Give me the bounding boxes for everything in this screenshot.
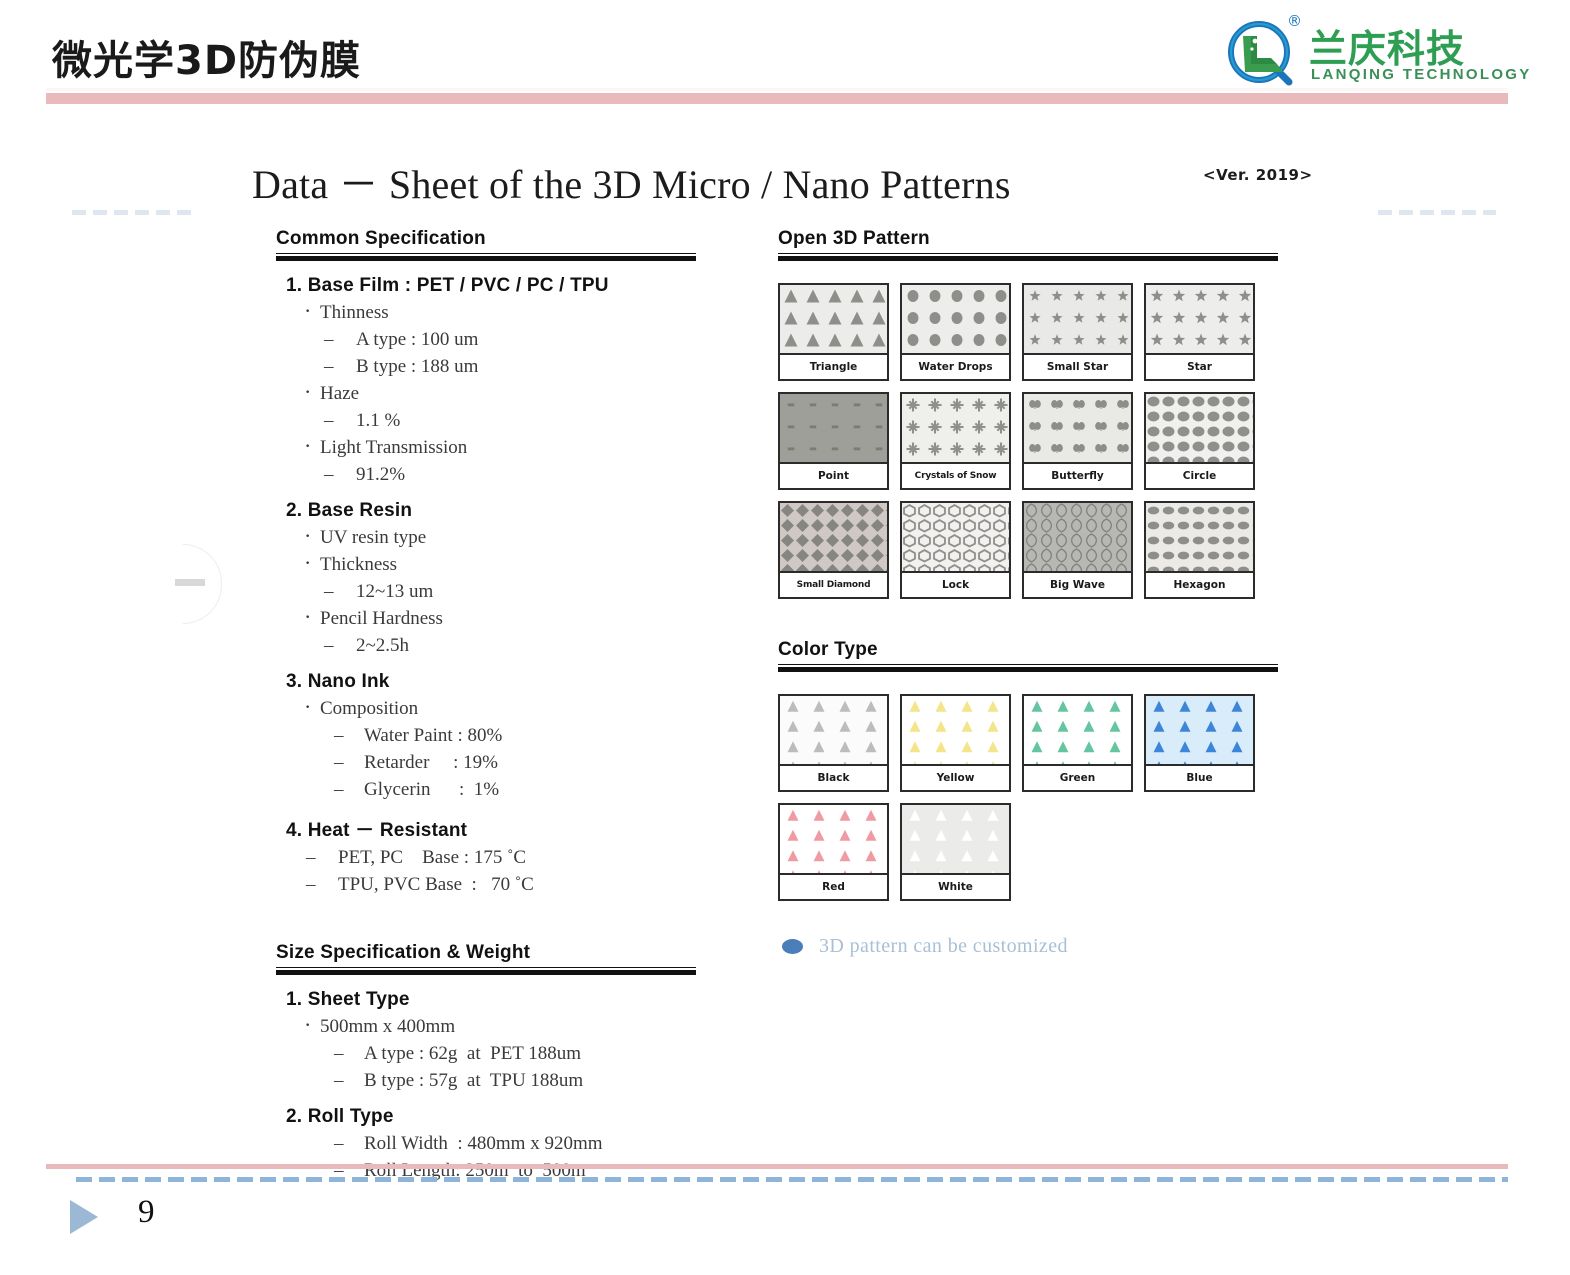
pattern-thumbnail-wave bbox=[1024, 503, 1131, 573]
pattern-tile-label: Circle bbox=[1146, 464, 1253, 488]
pattern-tile-label: Big Wave bbox=[1024, 573, 1131, 597]
spec-thickness-value: 12~13 um bbox=[276, 581, 696, 603]
pattern-tile-label: Water Drops bbox=[902, 355, 1009, 379]
pattern-thumbnail-smallstar bbox=[1024, 285, 1131, 355]
decorative-dashes-left bbox=[72, 210, 194, 215]
pattern-thumbnail-lock bbox=[902, 503, 1009, 573]
common-specification-block: Common Specification 1. Base Film : PET … bbox=[276, 228, 696, 896]
color-tile-label: Black bbox=[780, 766, 887, 790]
pattern-tile-label: Crystals of Snow bbox=[902, 464, 1009, 488]
heading-rule-thick bbox=[276, 970, 696, 975]
spec-haze: Haze bbox=[276, 383, 696, 405]
color-thumbnail-red bbox=[780, 805, 887, 875]
size-specification-block: Size Specification & Weight 1. Sheet Typ… bbox=[276, 942, 696, 1182]
heading-rule-thin bbox=[276, 253, 696, 254]
header-divider-pink bbox=[46, 93, 1508, 104]
color-tile: Black bbox=[778, 694, 889, 792]
pattern-thumbnail-star bbox=[1146, 285, 1253, 355]
company-logo: ® 兰庆科技 LANQING TECHNOLOGY bbox=[1225, 14, 1510, 90]
datasheet-version: <Ver. 2019> bbox=[1203, 166, 1313, 184]
customization-note-text: 3D pattern can be customized bbox=[819, 935, 1068, 958]
pattern-tile-grid: TriangleWater DropsSmall StarStarPointCr… bbox=[778, 283, 1278, 599]
color-tile-label: Red bbox=[780, 875, 887, 899]
spec-pencil-hardness: Pencil Hardness bbox=[276, 608, 696, 630]
decorative-dashes-right bbox=[1378, 210, 1496, 215]
size-roll-width: Roll Width : 480mm x 920mm bbox=[276, 1133, 696, 1155]
spec-thickness: Thickness bbox=[276, 554, 696, 576]
pattern-tile: Circle bbox=[1144, 392, 1255, 490]
bullet-dot-icon bbox=[782, 939, 803, 954]
page-title: 微光学3D防伪膜 bbox=[52, 28, 361, 86]
pattern-thumbnail-snow bbox=[902, 394, 1009, 464]
color-tile-label: Yellow bbox=[902, 766, 1009, 790]
pattern-tile: Water Drops bbox=[900, 283, 1011, 381]
size-specification-heading: Size Specification & Weight bbox=[276, 942, 696, 964]
pattern-tile: Lock bbox=[900, 501, 1011, 599]
pattern-thumbnail-triangle bbox=[780, 285, 887, 355]
pattern-tile: Star bbox=[1144, 283, 1255, 381]
heading-rule-thick bbox=[778, 256, 1278, 261]
color-type-heading: Color Type bbox=[778, 639, 1278, 661]
color-thumbnail-white bbox=[902, 805, 1009, 875]
heading-rule-thin bbox=[276, 967, 696, 968]
right-column: Open 3D Pattern TriangleWater DropsSmall… bbox=[778, 228, 1278, 958]
color-tile: Yellow bbox=[900, 694, 1011, 792]
datasheet-title: Data － Sheet of the 3D Micro / Nano Patt… bbox=[252, 152, 1011, 210]
common-specification-heading: Common Specification bbox=[276, 228, 696, 250]
customization-note: 3D pattern can be customized bbox=[778, 935, 1278, 958]
color-tile: White bbox=[900, 803, 1011, 901]
spec-retarder: Retarder : 19% bbox=[276, 752, 696, 774]
spec-thinness-a: A type : 100 um bbox=[276, 329, 696, 351]
spec-water-paint: Water Paint : 80% bbox=[276, 725, 696, 747]
spec-light-transmission-value: 91.2% bbox=[276, 464, 696, 486]
spec-thinness: Thinness bbox=[276, 302, 696, 324]
size-sheet-a-type: A type : 62g at PET 188um bbox=[276, 1043, 696, 1065]
spec-heat-resistant: 4. Heat － Resistant bbox=[276, 815, 696, 842]
pattern-tile: Crystals of Snow bbox=[900, 392, 1011, 490]
pattern-tile-label: Lock bbox=[902, 573, 1009, 597]
pattern-tile: Hexagon bbox=[1144, 501, 1255, 599]
pattern-tile-label: Hexagon bbox=[1146, 573, 1253, 597]
spec-pencil-hardness-value: 2~2.5h bbox=[276, 635, 696, 657]
pattern-tile-label: Point bbox=[780, 464, 887, 488]
page-header: 微光学3D防伪膜 ® 兰庆科技 LANQING TECHNOLOGY bbox=[0, 0, 1570, 110]
page-number: 9 bbox=[138, 1194, 155, 1231]
spec-glycerin: Glycerin : 1% bbox=[276, 779, 696, 801]
pattern-tile-label: Butterfly bbox=[1024, 464, 1131, 488]
pattern-tile: Triangle bbox=[778, 283, 889, 381]
color-thumbnail-green bbox=[1024, 696, 1131, 766]
color-tile-label: Green bbox=[1024, 766, 1131, 790]
play-triangle-icon bbox=[70, 1200, 98, 1234]
spec-heat-pet-pc: PET, PC Base : 175 ˚C bbox=[276, 847, 696, 869]
color-thumbnail-black bbox=[780, 696, 887, 766]
pattern-thumbnail-circle bbox=[1146, 394, 1253, 464]
spec-composition: Composition bbox=[276, 698, 696, 720]
color-tile: Blue bbox=[1144, 694, 1255, 792]
pattern-tile-label: Star bbox=[1146, 355, 1253, 379]
size-sheet-type: 1. Sheet Type bbox=[276, 989, 696, 1011]
color-tile: Green bbox=[1022, 694, 1133, 792]
spec-uv-resin: UV resin type bbox=[276, 527, 696, 549]
scan-artifact bbox=[183, 544, 222, 624]
pattern-tile-label: Small Diamond bbox=[780, 573, 887, 597]
logo-name-en: LANQING TECHNOLOGY bbox=[1311, 66, 1532, 83]
heading-rule-thin bbox=[778, 664, 1278, 665]
color-thumbnail-yellow bbox=[902, 696, 1009, 766]
color-tile-label: Blue bbox=[1146, 766, 1253, 790]
pattern-tile-label: Small Star bbox=[1024, 355, 1131, 379]
color-tile-label: White bbox=[902, 875, 1009, 899]
pattern-tile: Big Wave bbox=[1022, 501, 1133, 599]
heading-rule-thick bbox=[778, 667, 1278, 672]
pattern-thumbnail-diamond bbox=[780, 503, 887, 573]
open-3d-pattern-heading: Open 3D Pattern bbox=[778, 228, 1278, 250]
spec-thinness-b: B type : 188 um bbox=[276, 356, 696, 378]
pattern-tile: Point bbox=[778, 392, 889, 490]
spec-base-film: 1. Base Film : PET / PVC / PC / TPU bbox=[276, 275, 696, 297]
size-roll-type: 2. Roll Type bbox=[276, 1106, 696, 1128]
spec-haze-value: 1.1 % bbox=[276, 410, 696, 432]
size-sheet-b-type: B type : 57g at TPU 188um bbox=[276, 1070, 696, 1092]
spec-base-resin: 2. Base Resin bbox=[276, 500, 696, 522]
footer-divider-dashed bbox=[76, 1177, 1508, 1182]
pattern-thumbnail-butterfly bbox=[1024, 394, 1131, 464]
logo-name-cn: 兰庆科技 bbox=[1309, 18, 1465, 73]
color-tile: Red bbox=[778, 803, 889, 901]
open-3d-pattern-block: Open 3D Pattern TriangleWater DropsSmall… bbox=[778, 228, 1278, 599]
left-column: Common Specification 1. Base Film : PET … bbox=[276, 228, 696, 1182]
footer-divider-pink bbox=[46, 1164, 1508, 1169]
heading-rule-thin bbox=[778, 253, 1278, 254]
spec-light-transmission: Light Transmission bbox=[276, 437, 696, 459]
size-sheet-dimensions: 500mm x 400mm bbox=[276, 1016, 696, 1038]
pattern-thumbnail-hexagon bbox=[1146, 503, 1253, 573]
pattern-thumbnail-drops bbox=[902, 285, 1009, 355]
pattern-tile: Small Diamond bbox=[778, 501, 889, 599]
spec-nano-ink: 3. Nano Ink bbox=[276, 671, 696, 693]
pattern-tile: Butterfly bbox=[1022, 392, 1133, 490]
registered-mark-icon: ® bbox=[1287, 12, 1302, 30]
color-tile-grid: BlackYellowGreenBlueRedWhite bbox=[778, 694, 1278, 901]
pattern-tile: Small Star bbox=[1022, 283, 1133, 381]
spec-heat-tpu-pvc: TPU, PVC Base : 70 ˚C bbox=[276, 874, 696, 896]
pattern-tile-label: Triangle bbox=[780, 355, 887, 379]
color-type-block: Color Type BlackYellowGreenBlueRedWhite … bbox=[778, 639, 1278, 958]
heading-rule-thick bbox=[276, 256, 696, 261]
color-thumbnail-blue bbox=[1146, 696, 1253, 766]
pattern-thumbnail-point bbox=[780, 394, 887, 464]
